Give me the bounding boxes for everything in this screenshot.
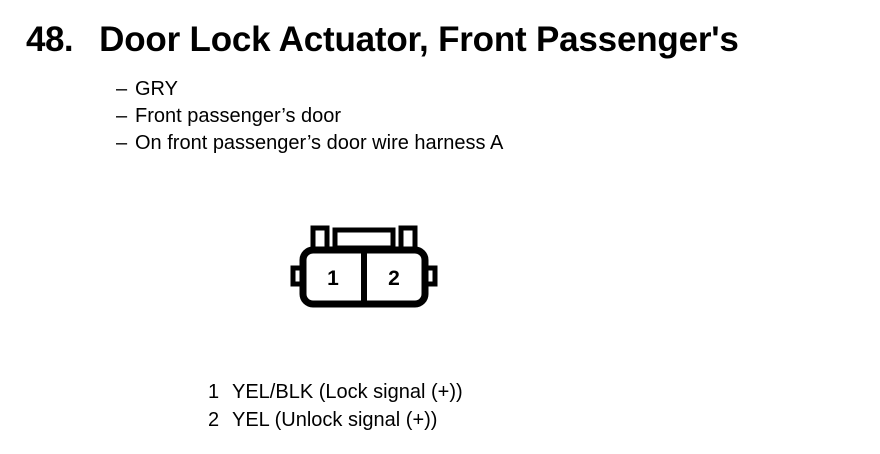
legend-pin-number: 2: [208, 406, 232, 434]
legend-pin-number: 1: [208, 378, 232, 406]
spec-item: – Front passenger’s door: [116, 103, 816, 130]
spec-list: – GRY – Front passenger’s door – On fron…: [116, 76, 816, 157]
dash-icon: –: [116, 130, 135, 157]
page-title: 48. Door Lock Actuator, Front Passenger'…: [26, 22, 739, 57]
connector-pin-1-label: 1: [327, 267, 339, 290]
spec-item-label: On front passenger’s door wire harness A: [135, 130, 503, 157]
dash-icon: –: [116, 103, 135, 130]
connector-diagram: 1 2: [289, 224, 439, 310]
item-number: 48.: [26, 22, 73, 57]
connector-pin-2-label: 2: [388, 267, 400, 290]
legend-pin-description: YEL/BLK (Lock signal (+)): [232, 378, 463, 406]
connector-svg: 1 2: [289, 224, 439, 310]
connector-reference-page: 48. Door Lock Actuator, Front Passenger'…: [0, 0, 880, 454]
dash-icon: –: [116, 76, 135, 103]
legend-row: 2 YEL (Unlock signal (+)): [208, 406, 463, 434]
legend-pin-description: YEL (Unlock signal (+)): [232, 406, 437, 434]
title-text: Door Lock Actuator, Front Passenger's: [99, 22, 739, 57]
pin-legend: 1 YEL/BLK (Lock signal (+)) 2 YEL (Unloc…: [208, 378, 463, 434]
spec-item: – On front passenger’s door wire harness…: [116, 130, 816, 157]
spec-item: – GRY: [116, 76, 816, 103]
spec-item-label: Front passenger’s door: [135, 103, 341, 130]
spec-item-label: GRY: [135, 76, 178, 103]
legend-row: 1 YEL/BLK (Lock signal (+)): [208, 378, 463, 406]
connector-top-latch-bar: [335, 230, 393, 248]
